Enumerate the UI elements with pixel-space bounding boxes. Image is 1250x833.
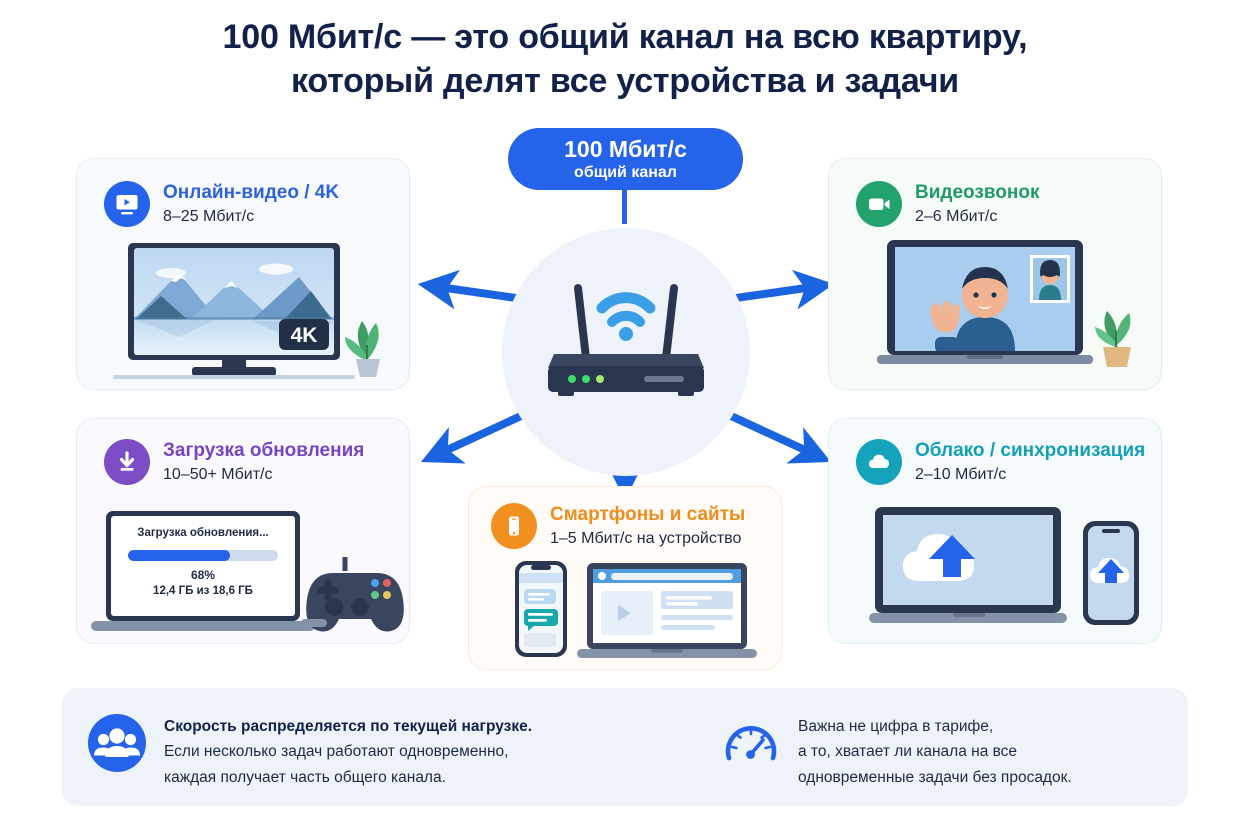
badge-4k: 4K: [291, 324, 318, 347]
card-title: Онлайн-видео / 4K: [163, 182, 339, 204]
users-group-icon: [88, 714, 146, 772]
title-line-2: который делят все устройства и задачи: [0, 60, 1250, 104]
speedometer-icon: [722, 714, 780, 772]
cloud-icon: [856, 439, 902, 485]
gamepad-icon: [283, 549, 407, 641]
footer-left-line-3: каждая получает часть общего канала.: [164, 765, 532, 790]
card-subtitle: 2–10 Мбит/с: [915, 466, 1145, 484]
footer-left-line-2: Если несколько задач работают одновремен…: [164, 739, 532, 764]
phone-laptop-illustration: [513, 559, 765, 663]
hub-badge: 100 Мбит/с общий канал: [508, 128, 743, 190]
progress-bar-track: [128, 550, 278, 561]
cloud-sync-illustration: [845, 505, 1149, 637]
videocall-illustration: [847, 237, 1147, 383]
laptop-base: [91, 621, 315, 631]
card-video-call[interactable]: Видеозвонок 2–6 Мбит/с: [828, 158, 1162, 390]
card-cloud-sync[interactable]: Облако / синхронизация 2–10 Мбит/с: [828, 418, 1162, 644]
infographic-root: 100 Мбит/с — это общий канал на всю квар…: [0, 0, 1250, 833]
title-line-1: 100 Мбит/с — это общий канал на всю квар…: [223, 18, 1028, 56]
progress-percent: 68%: [111, 568, 295, 582]
footer-panel: Скорость распределяется по текущей нагру…: [62, 688, 1188, 806]
smartphone-icon: [491, 503, 537, 549]
card-title: Смартфоны и сайты: [550, 504, 745, 526]
plant-icon: [1095, 311, 1131, 367]
footer-right-line-2: а то, хватает ли канала на все: [798, 739, 1072, 764]
hub-label: общий канал: [574, 164, 677, 181]
card-subtitle: 10–50+ Мбит/с: [163, 466, 364, 484]
video-play-icon: [104, 181, 150, 227]
card-title: Видеозвонок: [915, 182, 1039, 204]
footer-left-heading: Скорость распределяется по текущей нагру…: [164, 714, 532, 739]
video-camera-icon: [856, 181, 902, 227]
card-title: Облако / синхронизация: [915, 440, 1145, 462]
plant-icon: [345, 321, 380, 377]
page-title: 100 Мбит/с — это общий канал на всю квар…: [0, 16, 1250, 103]
card-subtitle: 8–25 Мбит/с: [163, 208, 339, 226]
download-arrow-icon: [104, 439, 150, 485]
card-title: Загрузка обновления: [163, 440, 364, 462]
card-subtitle: 1–5 Мбит/с на устройство: [550, 530, 745, 548]
card-update-download[interactable]: Загрузка обновления 10–50+ Мбит/с Загруз…: [76, 418, 410, 644]
progress-size: 12,4 ГБ из 18,6 ГБ: [111, 585, 295, 597]
hub-stem: [622, 188, 627, 224]
wifi-router-icon: [520, 250, 732, 400]
card-smartphones-sites[interactable]: Смартфоны и сайты 1–5 Мбит/с на устройст…: [468, 486, 782, 670]
progress-caption: Загрузка обновления...: [111, 527, 295, 539]
tv-illustration: 4K: [91, 241, 397, 383]
footer-right: Важна не цифра в тарифе, а то, хватает л…: [722, 714, 1172, 790]
card-subtitle: 2–6 Мбит/с: [915, 208, 1039, 226]
download-laptop: Загрузка обновления... 68% 12,4 ГБ из 18…: [106, 511, 300, 621]
progress-bar-fill: [128, 550, 230, 561]
footer-left: Скорость распределяется по текущей нагру…: [88, 714, 618, 790]
arrow-to-cloud: [718, 410, 818, 456]
hub-speed: 100 Мбит/с: [564, 137, 687, 162]
footer-right-line-1: Важна не цифра в тарифе,: [798, 714, 1072, 739]
footer-right-line-3: одновременные задачи без просадок.: [798, 765, 1072, 790]
card-online-video[interactable]: Онлайн-видео / 4K 8–25 Мбит/с: [76, 158, 410, 390]
arrow-to-update: [434, 410, 534, 456]
